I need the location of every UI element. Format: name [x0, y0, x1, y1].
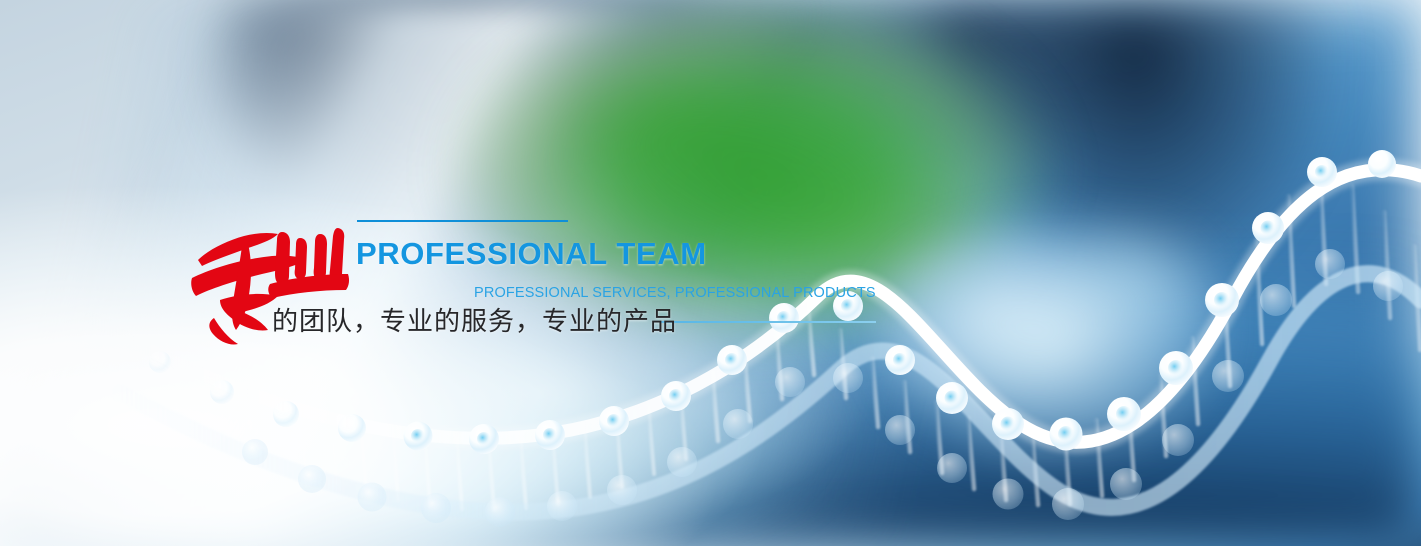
calligraphy-zhuanye-icon [186, 214, 351, 346]
banner-text-block: PROFESSIONAL TEAM PROFESSIONAL SERVICES,… [0, 0, 1421, 546]
hero-banner: PROFESSIONAL TEAM PROFESSIONAL SERVICES,… [0, 0, 1421, 546]
divider-line-bottom [660, 321, 876, 323]
headline-professional-team: PROFESSIONAL TEAM [356, 238, 707, 269]
divider-line-top [357, 220, 568, 222]
subheadline-services-products: PROFESSIONAL SERVICES, PROFESSIONAL PROD… [474, 286, 876, 301]
